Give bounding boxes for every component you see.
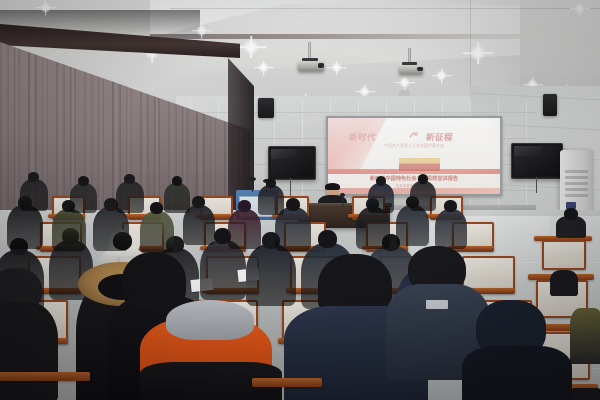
microphone-head	[249, 177, 256, 181]
person-body	[410, 181, 436, 211]
person-body	[356, 207, 390, 249]
desk-microphone	[340, 193, 345, 197]
wall-tv-right	[511, 143, 563, 179]
recessed-downlight	[331, 62, 342, 73]
chair-rail	[252, 378, 322, 387]
desk-microphone-stand	[342, 196, 343, 207]
ceiling-seam	[170, 8, 600, 9]
recessed-downlight	[470, 45, 486, 61]
person-body	[7, 205, 43, 249]
person-body	[258, 185, 284, 215]
tv-glare	[271, 149, 296, 159]
person-body	[116, 181, 144, 213]
person-head	[238, 200, 251, 212]
ac-vent	[565, 182, 588, 185]
person-body	[462, 346, 572, 400]
presenter-hair	[325, 183, 340, 190]
person-body	[140, 211, 174, 253]
person-head	[150, 202, 163, 214]
tv-glare	[514, 146, 542, 156]
jacket-logo	[426, 300, 448, 309]
projector-lens	[417, 67, 423, 71]
recessed-downlight	[243, 39, 259, 55]
person-head	[124, 174, 135, 184]
recessed-downlight	[40, 2, 51, 13]
ac-vent	[565, 194, 588, 197]
person-head	[78, 176, 89, 186]
recessed-downlight	[399, 77, 410, 88]
ac-vent	[565, 188, 588, 191]
chair-back	[542, 240, 586, 270]
tv-cable	[536, 177, 537, 193]
projector-lens	[318, 63, 324, 68]
projector-pole	[308, 42, 311, 58]
person-body	[93, 207, 129, 251]
ac-vent	[565, 176, 588, 179]
recessed-downlight	[196, 25, 207, 36]
microphone-stand	[252, 180, 253, 192]
person-body	[20, 179, 48, 211]
person-body	[52, 209, 86, 251]
person-body	[228, 209, 261, 249]
wall-tv-left	[268, 146, 316, 180]
wall-speaker-right	[543, 94, 557, 116]
wall-speaker-left	[258, 98, 274, 118]
ac-vent	[565, 170, 588, 173]
recessed-downlight	[258, 62, 269, 73]
person-head	[564, 208, 578, 220]
person-head	[418, 174, 428, 184]
recessed-downlight	[574, 3, 585, 14]
gray-hood	[166, 300, 254, 340]
person-body	[246, 244, 296, 306]
person-head	[28, 172, 39, 182]
person-head	[192, 196, 205, 208]
person-body	[435, 209, 467, 249]
person-head	[376, 176, 386, 186]
person-body	[570, 308, 600, 364]
person-head	[286, 198, 300, 211]
projector-pole	[408, 48, 411, 62]
person-body	[368, 183, 394, 213]
chair-rail	[0, 372, 90, 381]
person-body	[0, 302, 58, 400]
person-body	[550, 270, 578, 296]
person-body	[396, 205, 429, 246]
person-head	[444, 200, 457, 212]
person-body	[164, 183, 190, 213]
person-body	[70, 183, 97, 213]
conference-room-photo: 新时代 新征程 中国共产党第十九次全国代表大会 新时代中国特色社会主义思想宣讲报…	[0, 0, 600, 400]
person-head	[172, 176, 182, 186]
person-head	[266, 178, 276, 188]
person-head	[318, 230, 337, 248]
recessed-downlight	[436, 70, 447, 81]
